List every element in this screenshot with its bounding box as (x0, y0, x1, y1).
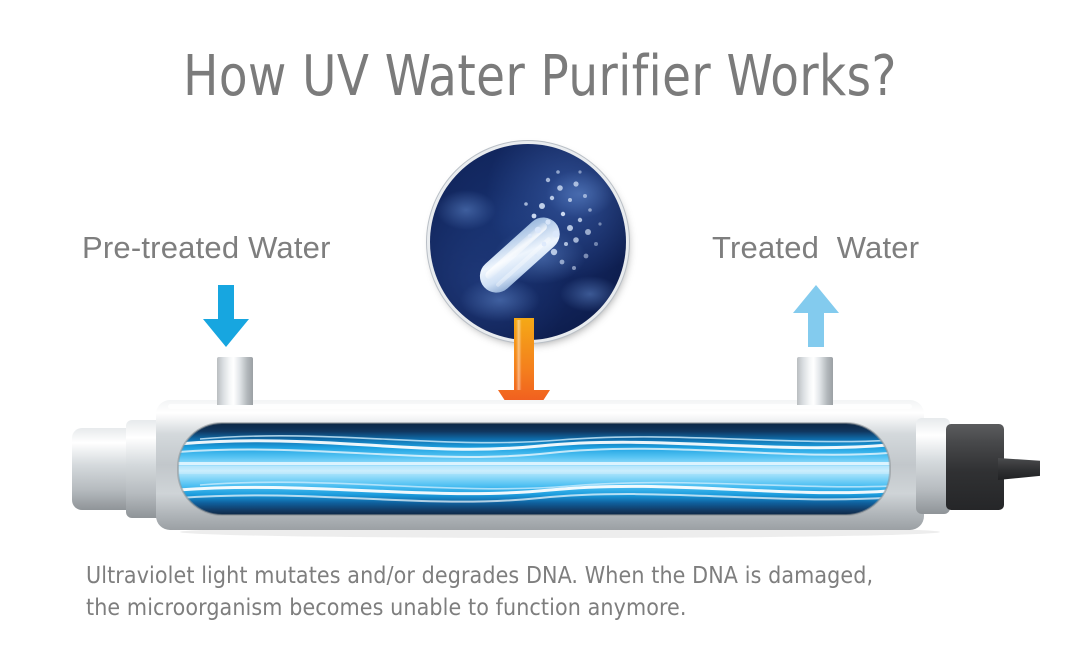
inlet-port (217, 357, 253, 405)
microorganism-inset (430, 144, 626, 340)
uv-chamber (60, 340, 1040, 540)
page-title: How UV Water Purifier Works? (38, 44, 1042, 109)
caption-line-1: Ultraviolet light mutates and/or degrade… (86, 560, 966, 592)
caption-line-2: the microorganism becomes unable to func… (86, 592, 966, 624)
outlet-label: Treated Water (712, 230, 919, 266)
inlet-label: Pre-treated Water (82, 230, 331, 266)
uv-chamber-illustration (60, 340, 1040, 540)
power-wire (998, 458, 1040, 480)
caption: Ultraviolet light mutates and/or degrade… (86, 560, 966, 624)
outlet-port (797, 357, 833, 405)
microorganism-illustration (430, 144, 626, 340)
outlet-arrow (793, 285, 839, 347)
water-window (178, 423, 910, 515)
inlet-arrow (203, 285, 249, 347)
end-cap (946, 424, 1004, 510)
left-stub (72, 420, 170, 518)
right-collar (916, 418, 950, 514)
